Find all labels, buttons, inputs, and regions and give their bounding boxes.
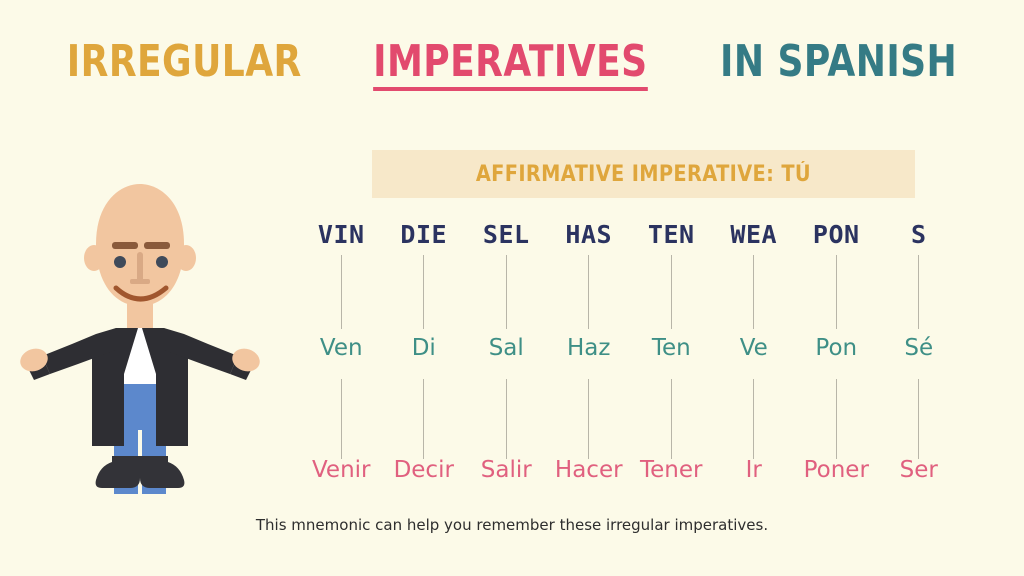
mnemonic-cell: DIE — [400, 222, 447, 255]
command-cell: Sal — [489, 337, 524, 370]
character-illustration — [20, 178, 260, 498]
connector-line — [588, 379, 589, 459]
infinitive-cell: Venir — [312, 459, 371, 492]
connector-line — [341, 255, 342, 329]
mnemonic-cell: S — [911, 222, 927, 255]
title-space-2 — [679, 40, 692, 84]
connector-line — [753, 379, 754, 459]
connector-line — [341, 379, 342, 459]
table-column: HAS Haz Hacer — [548, 222, 631, 492]
command-cell: Di — [412, 337, 436, 370]
infinitive-cell: Decir — [394, 459, 454, 492]
mnemonic-cell: PON — [813, 222, 860, 255]
page-title: IRREGULAR IMPERATIVES IN SPANISH — [0, 40, 1024, 91]
mnemonic-cell: VIN — [318, 222, 365, 255]
command-cell: Ten — [652, 337, 691, 370]
infinitive-cell: Tener — [640, 459, 702, 492]
title-word-imperatives: IMPERATIVES — [373, 40, 647, 91]
table-column: TEN Ten Tener — [630, 222, 713, 492]
connector-line — [918, 255, 919, 329]
table-column: S Sé Ser — [878, 222, 961, 492]
table-column: SEL Sal Salir — [465, 222, 548, 492]
footer-caption: This mnemonic can help you remember thes… — [0, 516, 1024, 534]
mnemonic-cell: HAS — [565, 222, 612, 255]
connector-line — [918, 379, 919, 459]
mnemonic-cell: WEA — [730, 222, 777, 255]
infinitive-cell: Ir — [746, 459, 762, 492]
mnemonic-table: VIN Ven Venir DIE Di Decir SEL Sal Salir… — [300, 222, 960, 492]
connector-line — [423, 255, 424, 329]
command-cell: Pon — [815, 337, 857, 370]
connector-line — [753, 255, 754, 329]
connector-line — [836, 379, 837, 459]
connector-line — [506, 255, 507, 329]
infinitive-cell: Poner — [804, 459, 869, 492]
table-column: VIN Ven Venir — [300, 222, 383, 492]
command-cell: Ven — [320, 337, 363, 370]
banner-label: AFFIRMATIVE IMPERATIVE: TÚ — [476, 162, 811, 187]
mnemonic-cell: SEL — [483, 222, 530, 255]
infinitive-cell: Salir — [481, 459, 532, 492]
connector-line — [423, 379, 424, 459]
connector-line — [506, 379, 507, 459]
title-word-in-spanish: IN SPANISH — [720, 40, 957, 84]
infinitive-cell: Hacer — [555, 459, 623, 492]
command-cell: Ve — [740, 337, 768, 370]
mnemonic-cell: TEN — [648, 222, 695, 255]
connector-line — [588, 255, 589, 329]
command-cell: Haz — [567, 337, 610, 370]
infinitive-cell: Ser — [900, 459, 938, 492]
title-word-irregular: IRREGULAR — [67, 40, 302, 84]
connector-line — [836, 255, 837, 329]
connector-line — [671, 379, 672, 459]
affirmative-imperative-banner: AFFIRMATIVE IMPERATIVE: TÚ — [372, 150, 915, 198]
table-column: DIE Di Decir — [383, 222, 466, 492]
table-column: PON Pon Poner — [795, 222, 878, 492]
command-cell: Sé — [904, 337, 933, 370]
title-space-1 — [329, 40, 342, 84]
connector-line — [671, 255, 672, 329]
table-column: WEA Ve Ir — [713, 222, 796, 492]
